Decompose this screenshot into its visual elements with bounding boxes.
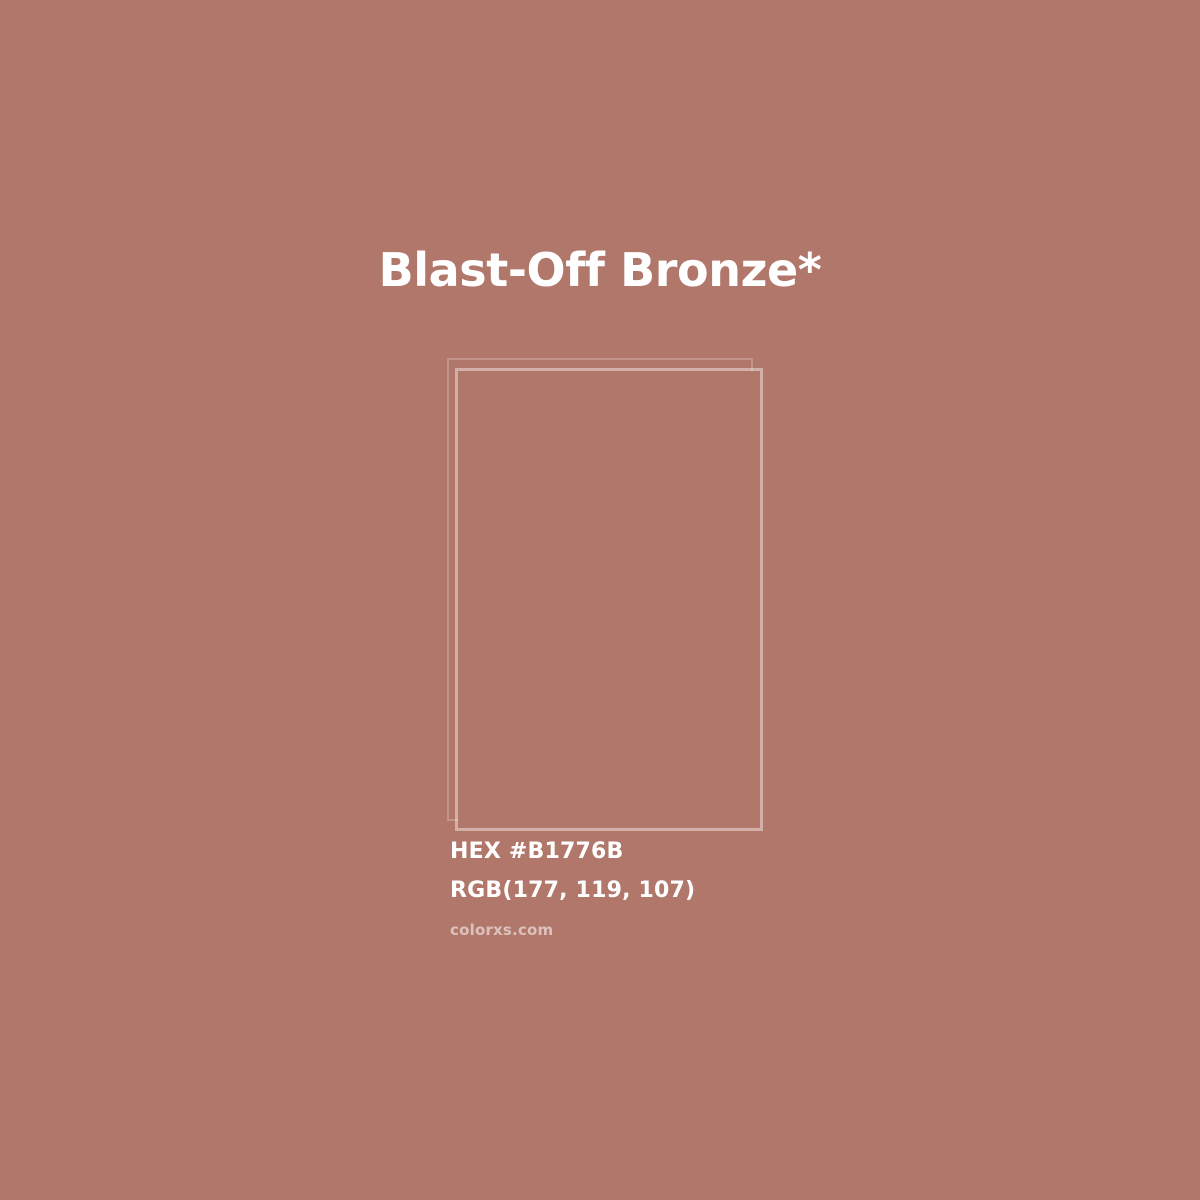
color-info-block: HEX #B1776B RGB(177, 119, 107) colorxs.c…	[450, 832, 950, 943]
page-title: Blast-Off Bronze*	[0, 240, 1200, 300]
site-credit-label: colorxs.com	[450, 917, 950, 943]
swatch-fill	[458, 371, 760, 828]
swatch-frame-front	[455, 368, 763, 831]
color-swatch	[440, 350, 770, 840]
hex-value-label: HEX #B1776B	[450, 832, 950, 871]
color-detail-page: Blast-Off Bronze* HEX #B1776B RGB(177, 1…	[0, 0, 1200, 1200]
rgb-value-label: RGB(177, 119, 107)	[450, 871, 950, 910]
